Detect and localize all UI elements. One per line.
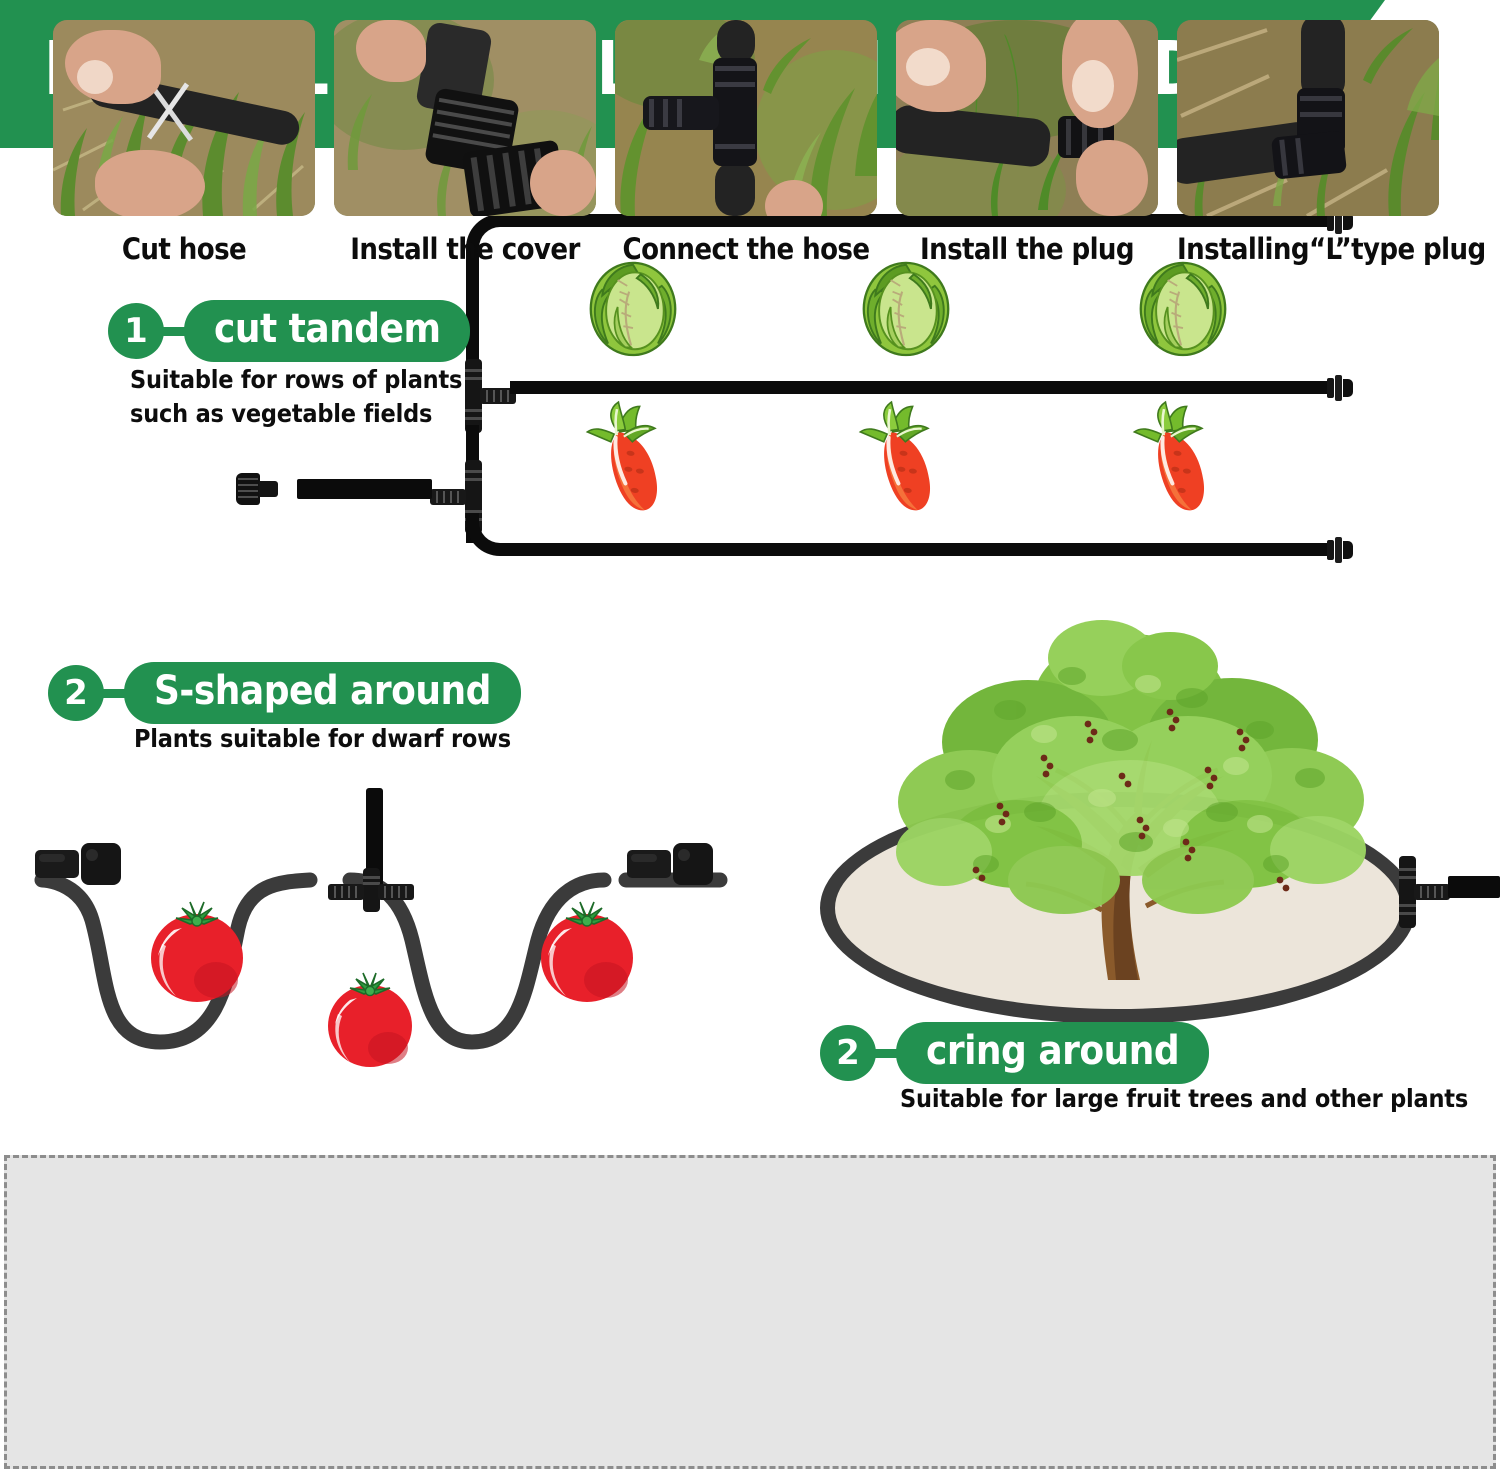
tee-connector-in-photo (713, 58, 757, 166)
photo-caption: Connect the hose (615, 232, 877, 282)
photo-caption: Cut hose (53, 232, 315, 282)
step-title-2: S-shaped around (124, 662, 521, 724)
photo-caption: Install the cover (334, 232, 596, 282)
tee-connector-ring (1390, 856, 1424, 928)
step-label-2: 2 S-shaped around (48, 662, 521, 724)
photo-connect-hose (615, 20, 877, 216)
step-subtitle-2: Plants suitable for dwarf rows (134, 722, 511, 756)
photo-cut-hose (53, 20, 315, 216)
photo-strip-panel (4, 1155, 1496, 1469)
step-number-1: 1 (108, 303, 164, 359)
step-label-3: 2 cring around (820, 1022, 1209, 1084)
fruit-tree (840, 580, 1420, 1010)
faucet-knob-connector (236, 469, 278, 509)
tomato-plant (530, 888, 644, 1006)
tomato-plant (140, 888, 254, 1006)
photo-install-plug (896, 20, 1158, 216)
photo-row (0, 20, 1492, 230)
tube-ring-supply (1448, 876, 1500, 898)
fingernail (1072, 60, 1114, 112)
tee-connector-s (354, 868, 388, 912)
photo-install-cover (334, 20, 596, 216)
carrot-plant (575, 400, 685, 520)
tee-arm-in-photo (643, 96, 719, 130)
tube-row-2 (510, 381, 1327, 394)
fingernail (906, 48, 950, 86)
end-plug-row-2 (1327, 375, 1353, 401)
photo-caption: Installing“L”type plug (1177, 232, 1439, 282)
photo-caption: Install the plug (896, 232, 1158, 282)
step-label-1: 1 cut tandem (108, 300, 470, 362)
hand-in-photo (1076, 140, 1148, 216)
carrot-plant (848, 400, 958, 520)
photo-caption-row: Cut hose Install the cover Connect the h… (0, 232, 1492, 282)
step-subtitle-1: Suitable for rows of plants such as vege… (130, 363, 462, 431)
photo-elbow-plug (1177, 20, 1439, 216)
end-plug-s-right (627, 843, 713, 885)
tee-connector-1 (456, 359, 490, 433)
infographic-root: MULTIPLE INSTALLATION METHODS 1 cut tand… (0, 0, 1500, 1473)
step-title-3: cring around (896, 1022, 1209, 1084)
tube-supply-line (297, 479, 432, 499)
elbow-arm-in-photo (1271, 130, 1347, 179)
tomato-plant (318, 960, 422, 1070)
step-title-1: cut tandem (184, 300, 470, 362)
hose-in-photo (715, 162, 755, 216)
tube-corner-bottom-left (466, 513, 509, 556)
tube-row-3 (509, 543, 1327, 556)
fingernail (77, 60, 113, 94)
hand-in-photo (95, 150, 205, 216)
hand-in-photo (530, 150, 596, 216)
end-plug-s-left (35, 843, 121, 885)
carrot-plant (1122, 400, 1232, 520)
step-number-3: 2 (820, 1025, 876, 1081)
step-subtitle-3: Suitable for large fruit trees and other… (900, 1082, 1468, 1116)
end-plug-row-3 (1327, 537, 1353, 563)
step-number-2: 2 (48, 665, 104, 721)
